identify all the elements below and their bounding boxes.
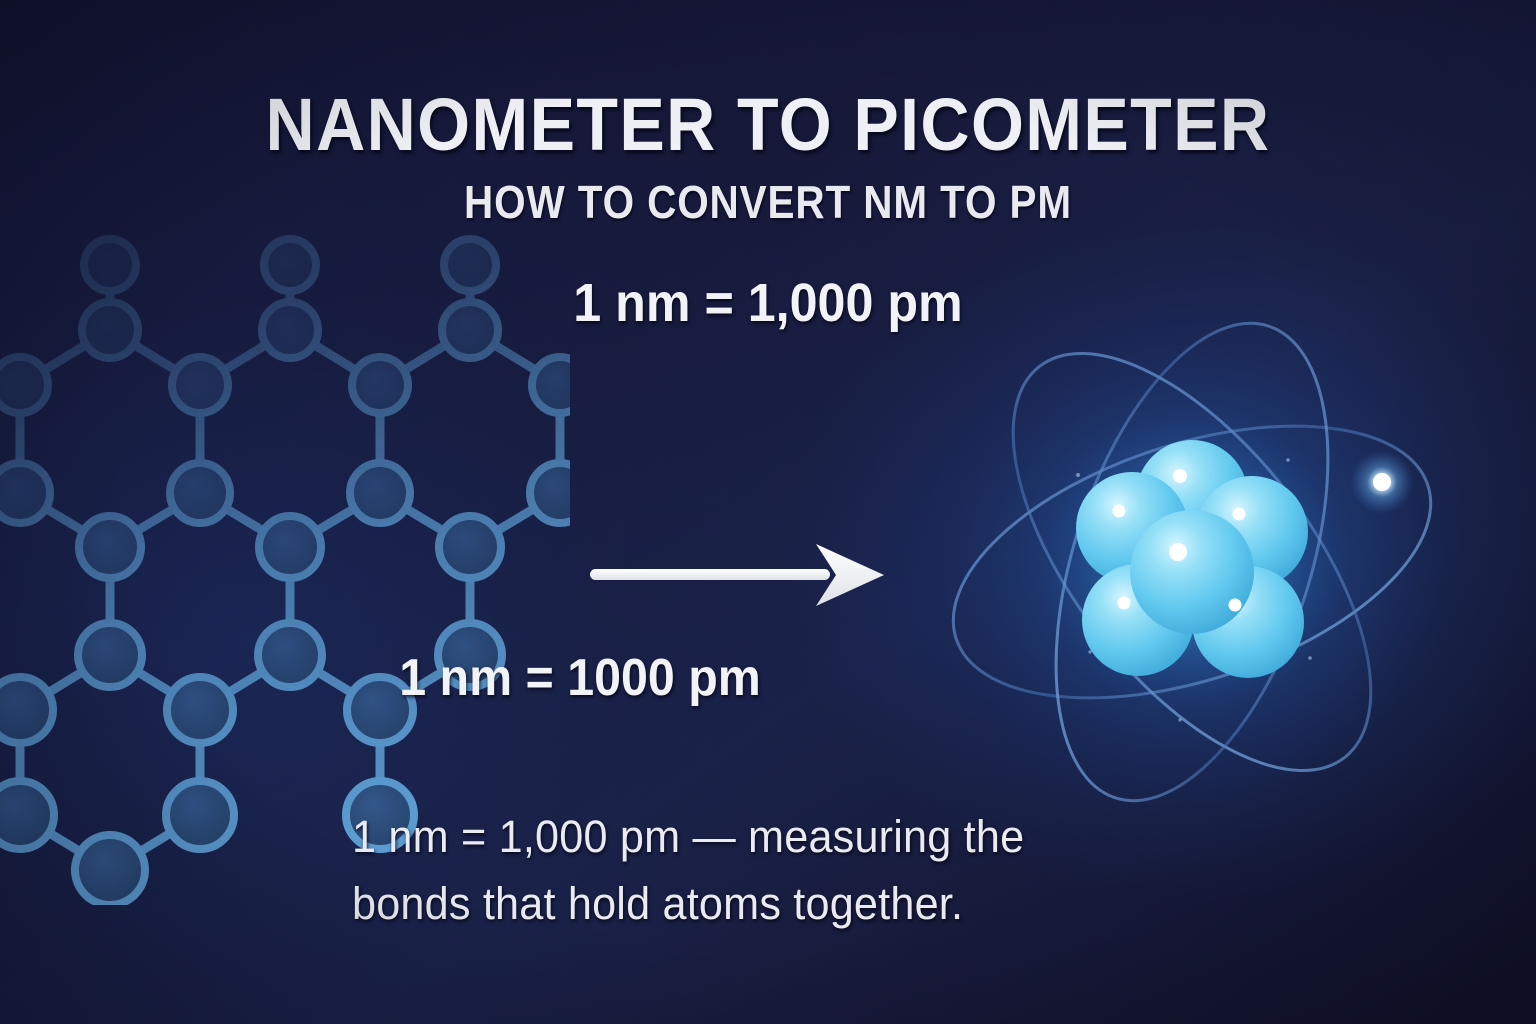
- caption-text: 1 nm = 1,000 pm — measuring the bonds th…: [352, 804, 1082, 937]
- electron-dot: [1350, 450, 1414, 514]
- infographic-canvas: NANOMETER TO PICOMETER HOW TO CONVERT NM…: [0, 0, 1536, 1024]
- page-subtitle: HOW TO CONVERT NM TO PM: [92, 175, 1444, 229]
- equation-secondary: 1 nm = 1000 pm: [41, 648, 1120, 708]
- atom-illustration: [930, 300, 1470, 830]
- conversion-arrow-icon: [588, 540, 888, 610]
- equation-primary: 1 nm = 1,000 pm: [54, 272, 1482, 334]
- page-title: NANOMETER TO PICOMETER: [61, 82, 1474, 167]
